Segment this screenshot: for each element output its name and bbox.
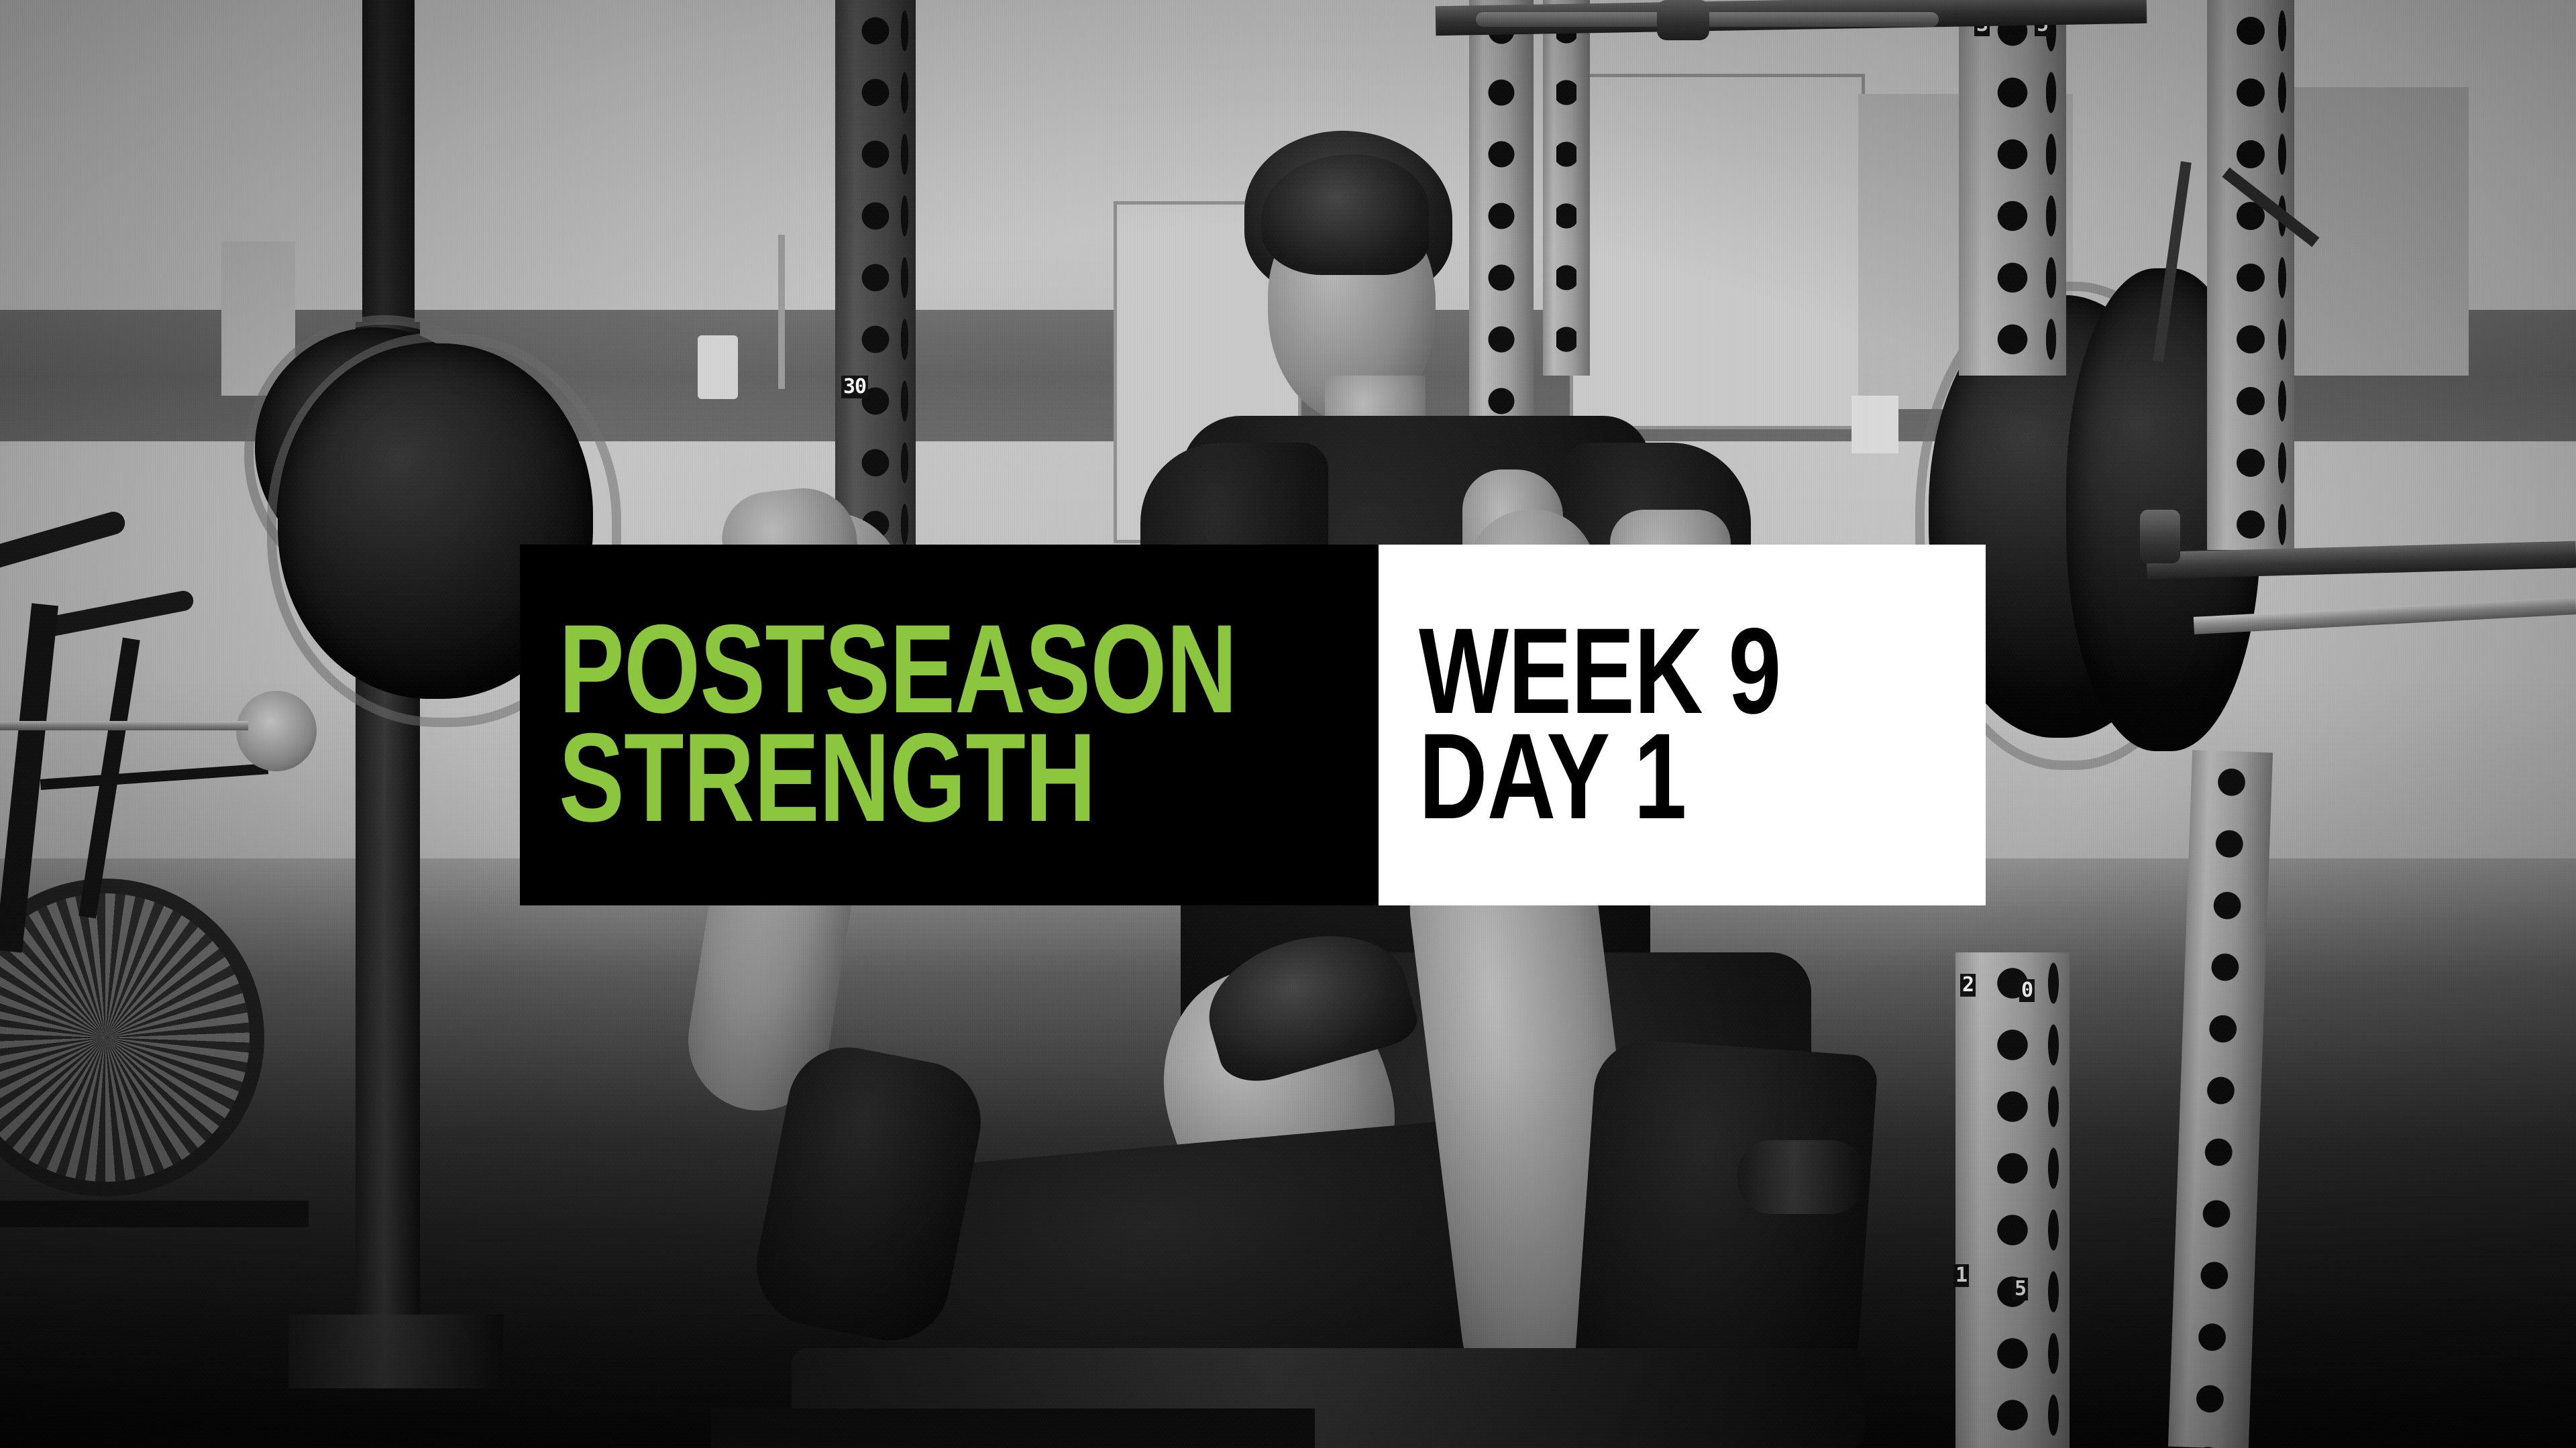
program-title-block: POSTSEASON STRENGTH [520,545,1379,905]
rack-hole-number-30: 30 [841,376,868,398]
floor-dumbbell [1737,1140,1865,1214]
wall-conduit [778,235,785,389]
rack-foot-left [288,1315,503,1388]
program-title-line-2: STRENGTH [559,724,1170,832]
assault-bike-base [0,1201,309,1227]
floor-mat-edge [711,1408,1315,1448]
rack-hole-number-20-left: 2 [1960,974,1976,997]
title-overlay: POSTSEASON STRENGTH WEEK 9 DAY 1 [520,545,1986,905]
rack-hole-number-15-right: 5 [2012,1278,2028,1300]
wall-sign-small [1851,396,1898,453]
rack-upright-mid-2 [1543,0,1590,376]
barbell-collar-left [236,691,317,771]
rack-hole-number-20-right: 0 [2019,979,2035,1002]
rig-clamp [1657,0,1709,40]
rack-upright-right-lower [1955,952,2070,1448]
wall-outlet-box [698,335,738,399]
rack-upright-mid [1469,0,1534,469]
rack-j-hook [2140,510,2180,563]
rack-upright-far-right [2207,0,2294,550]
barbell-shaft-left [0,721,248,730]
session-day-label: DAY 1 [1419,724,1831,829]
doorway-right [1570,74,1865,429]
graphic-canvas: 30 3 5 2 0 1 5 [0,0,2576,1448]
rack-hole-number-15-left: 1 [1953,1264,1969,1287]
rack-upright-right-top [1959,0,2066,376]
session-title-block: WEEK 9 DAY 1 [1379,545,1986,905]
